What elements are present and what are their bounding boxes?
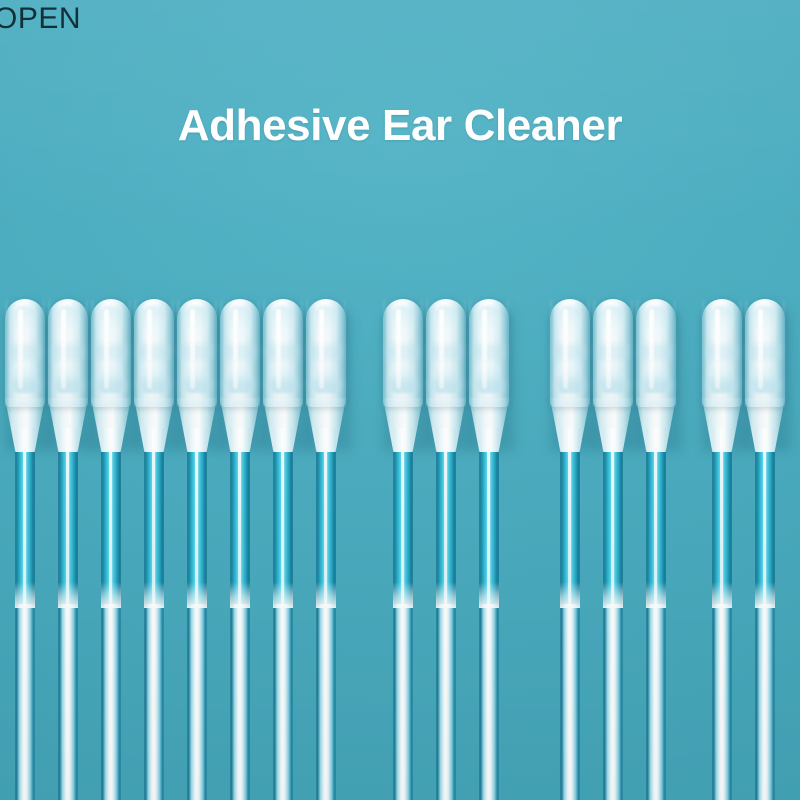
swab-shaft-upper (230, 428, 250, 604)
ear-cleaner-swab (132, 299, 176, 800)
swab-tip-band (639, 344, 673, 360)
swab-shaft (58, 428, 78, 800)
swab-tip-edge-left (177, 299, 181, 407)
swab-tip-highlight (563, 309, 568, 389)
ear-cleaner-swab (175, 299, 219, 800)
ear-cleaner-swab (467, 299, 511, 800)
swab-shaft-lower (479, 604, 499, 800)
swab-shaft (560, 428, 580, 800)
swab-tip-highlight (276, 309, 281, 389)
ear-cleaner-swab (261, 299, 305, 800)
swab-shaft (144, 428, 164, 800)
swab-tip-band (705, 344, 739, 360)
swab-tip-edge-left (383, 299, 387, 407)
swab-shaft-upper (393, 428, 413, 604)
swab-shaft-lower (144, 604, 164, 800)
swab-tip-band (429, 344, 463, 360)
swab-tip (593, 299, 633, 407)
swab-tip-band (472, 379, 506, 391)
swab-tip-edge-left (702, 299, 706, 407)
swab-tip-band (137, 344, 171, 360)
swab-shaft-lower (436, 604, 456, 800)
swab-tip (426, 299, 466, 407)
swab-tip-band (180, 379, 214, 391)
swab-tip (383, 299, 423, 407)
swab-shaft-upper (316, 428, 336, 604)
swab-tip-edge-right (462, 299, 466, 407)
swab-tip-band (94, 344, 128, 360)
swab-tip (177, 299, 217, 407)
swab-tip-band (137, 379, 171, 391)
swab-tip-band (223, 379, 257, 391)
swab-shaft (646, 428, 666, 800)
swab-tip-edge-left (636, 299, 640, 407)
swab-shaft-upper (755, 428, 775, 604)
swab-tip (636, 299, 676, 407)
swab-tip-band (51, 379, 85, 391)
swab-shaft-upper (646, 428, 666, 604)
swab-shaft (15, 428, 35, 800)
swab-shaft-upper (144, 428, 164, 604)
swab-tip-edge-right (170, 299, 174, 407)
swab-shaft (393, 428, 413, 800)
swab-tip-highlight (482, 309, 487, 389)
ear-cleaner-swab (218, 299, 262, 800)
swab-tip-edge-left (5, 299, 9, 407)
swab-tip (48, 299, 88, 407)
swab-tip-band (639, 379, 673, 391)
swab-tip-edge-right (213, 299, 217, 407)
swab-tip (702, 299, 742, 407)
swab-tip-edge-right (738, 299, 742, 407)
swab-tip-edge-left (550, 299, 554, 407)
swab-shaft (101, 428, 121, 800)
swab-tip-highlight (758, 309, 763, 389)
swab-shaft (230, 428, 250, 800)
ear-cleaner-swab (89, 299, 133, 800)
swab-tip (306, 299, 346, 407)
swab-tip-band (309, 344, 343, 360)
swab-tip (550, 299, 590, 407)
swab-shaft (316, 428, 336, 800)
swab-tip-band (553, 344, 587, 360)
swab-shaft-upper (603, 428, 623, 604)
swab-tip-edge-right (586, 299, 590, 407)
swab-tip-band (8, 379, 42, 391)
swab-tip-highlight (715, 309, 720, 389)
swab-tip-band (266, 344, 300, 360)
swab-tip-band (309, 379, 343, 391)
swab-tip-band (429, 379, 463, 391)
swab-shaft-lower (560, 604, 580, 800)
ear-cleaner-swab (700, 299, 744, 800)
swab-tip-edge-right (505, 299, 509, 407)
swab-tip-edge-left (426, 299, 430, 407)
swab-shaft (603, 428, 623, 800)
open-watermark: OPEN (0, 4, 81, 34)
swab-tip-highlight (649, 309, 654, 389)
swab-shaft (755, 428, 775, 800)
swab-shaft-upper (436, 428, 456, 604)
swab-shaft-upper (560, 428, 580, 604)
swab-tip-edge-left (134, 299, 138, 407)
swab-tip-edge-left (48, 299, 52, 407)
swab-tip-edge-left (91, 299, 95, 407)
swab-tip (5, 299, 45, 407)
swab-tip-highlight (18, 309, 23, 389)
swab-tip-band (223, 344, 257, 360)
swab-shaft-lower (316, 604, 336, 800)
swab-tip-band (596, 379, 630, 391)
ear-cleaner-swab (46, 299, 90, 800)
page-title: Adhesive Ear Cleaner (0, 103, 800, 149)
ear-cleaner-swab (3, 299, 47, 800)
swab-tip-band (596, 344, 630, 360)
swab-shaft-lower (187, 604, 207, 800)
product-image: OPEN Adhesive Ear Cleaner (0, 0, 800, 800)
swab-tip (134, 299, 174, 407)
swab-shaft-lower (230, 604, 250, 800)
swab-shaft-upper (15, 428, 35, 604)
swab-tip-edge-right (84, 299, 88, 407)
swab-tip-highlight (396, 309, 401, 389)
swab-tip-edge-right (419, 299, 423, 407)
swab-tip-band (180, 344, 214, 360)
ear-cleaner-swab (304, 299, 348, 800)
swab-tip-band (705, 379, 739, 391)
swab-shaft-upper (187, 428, 207, 604)
swab-tip-edge-left (469, 299, 473, 407)
swab-shaft-lower (646, 604, 666, 800)
swab-tip-edge-left (263, 299, 267, 407)
swab-shaft-upper (273, 428, 293, 604)
swab-tip-band (748, 379, 782, 391)
swab-tip-edge-right (127, 299, 131, 407)
swab-tip-highlight (61, 309, 66, 389)
swab-tip-band (553, 379, 587, 391)
swab-tip-highlight (104, 309, 109, 389)
swab-shaft-lower (393, 604, 413, 800)
swab-tip-edge-right (41, 299, 45, 407)
swab-tip-highlight (190, 309, 195, 389)
swab-shaft-lower (755, 604, 775, 800)
swab-tip (263, 299, 303, 407)
swab-tip-edge-left (306, 299, 310, 407)
swab-shaft (479, 428, 499, 800)
swab-tip-highlight (319, 309, 324, 389)
ear-cleaner-swab (381, 299, 425, 800)
swab-tip-band (748, 344, 782, 360)
swab-tip (469, 299, 509, 407)
ear-cleaner-swab (424, 299, 468, 800)
swab-shaft (436, 428, 456, 800)
swab-tip-edge-right (299, 299, 303, 407)
swab-shaft-upper (479, 428, 499, 604)
swab-shaft-lower (712, 604, 732, 800)
swab-shaft-lower (101, 604, 121, 800)
swab-shaft-lower (273, 604, 293, 800)
swab-shaft (712, 428, 732, 800)
swab-tip-highlight (439, 309, 444, 389)
swab-tip-band (51, 344, 85, 360)
swab-tip-highlight (233, 309, 238, 389)
swab-tip-band (266, 379, 300, 391)
swab-shaft-upper (712, 428, 732, 604)
swab-shaft-lower (15, 604, 35, 800)
swab-tip (220, 299, 260, 407)
swab-tip-band (386, 379, 420, 391)
swab-tip (745, 299, 785, 407)
swab-shaft-upper (58, 428, 78, 604)
swab-tip-band (472, 344, 506, 360)
swab-shaft-lower (603, 604, 623, 800)
ear-cleaner-swab (743, 299, 787, 800)
swab-tip-highlight (147, 309, 152, 389)
swab-tip-band (386, 344, 420, 360)
swab-tip-edge-right (629, 299, 633, 407)
swab-tip-edge-right (256, 299, 260, 407)
swab-tip-band (94, 379, 128, 391)
ear-cleaner-swab (591, 299, 635, 800)
swab-tip-band (8, 344, 42, 360)
swab-tip (91, 299, 131, 407)
swab-tip-edge-right (672, 299, 676, 407)
swab-shaft (187, 428, 207, 800)
swab-tip-edge-left (220, 299, 224, 407)
swab-shaft-lower (58, 604, 78, 800)
swab-tip-highlight (606, 309, 611, 389)
swab-tip-edge-right (342, 299, 346, 407)
swab-shaft-upper (101, 428, 121, 604)
ear-cleaner-swab (634, 299, 678, 800)
swab-shaft (273, 428, 293, 800)
swab-tip-edge-right (781, 299, 785, 407)
swab-tip-edge-left (745, 299, 749, 407)
swab-tip-edge-left (593, 299, 597, 407)
ear-cleaner-swab (548, 299, 592, 800)
